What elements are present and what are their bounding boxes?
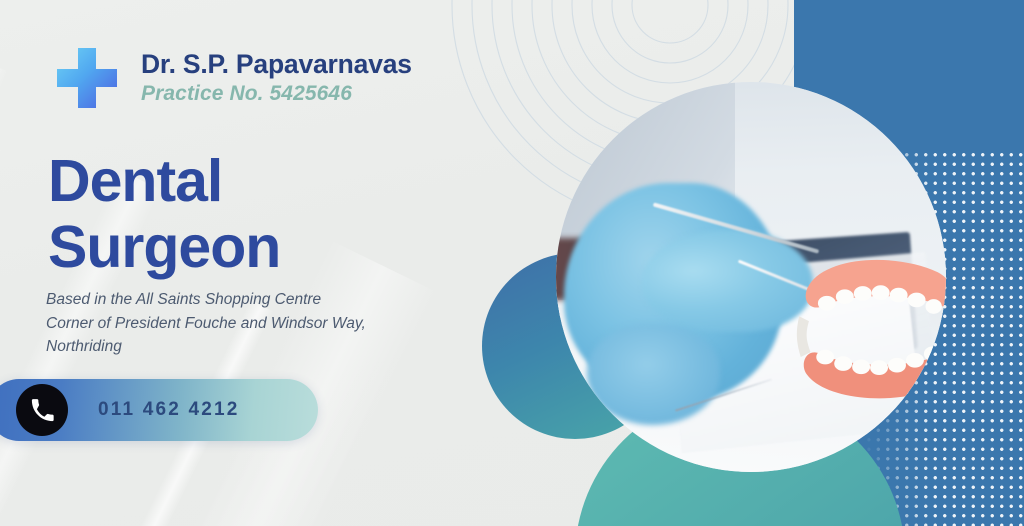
phone-number[interactable]: 011 462 4212 bbox=[98, 399, 240, 421]
address-line-3: Northriding bbox=[46, 335, 366, 359]
practice-number: Practice No. 5425646 bbox=[141, 81, 412, 106]
dentist-photo bbox=[556, 82, 946, 472]
practice-address: Based in the All Saints Shopping Centre … bbox=[46, 288, 366, 359]
doctor-name: Dr. S.P. Papavarnavas bbox=[141, 50, 412, 80]
address-line-1: Based in the All Saints Shopping Centre bbox=[46, 288, 366, 312]
dental-practice-banner: Dr. S.P. Papavarnavas Practice No. 54256… bbox=[0, 0, 1024, 526]
phone-handset-icon[interactable] bbox=[16, 384, 68, 436]
photo-denture-model bbox=[790, 238, 946, 417]
address-line-2: Corner of President Fouche and Windsor W… bbox=[46, 312, 366, 336]
headline-line-2: Surgeon bbox=[48, 214, 280, 280]
page-title: Dental Surgeon bbox=[48, 148, 280, 280]
practice-logo: Dr. S.P. Papavarnavas Practice No. 54256… bbox=[55, 46, 412, 110]
phone-contact-button[interactable]: 011 462 4212 bbox=[0, 379, 318, 441]
medical-cross-icon bbox=[55, 46, 119, 110]
headline-line-1: Dental bbox=[48, 148, 222, 214]
photo-glove-thumb bbox=[587, 324, 720, 425]
